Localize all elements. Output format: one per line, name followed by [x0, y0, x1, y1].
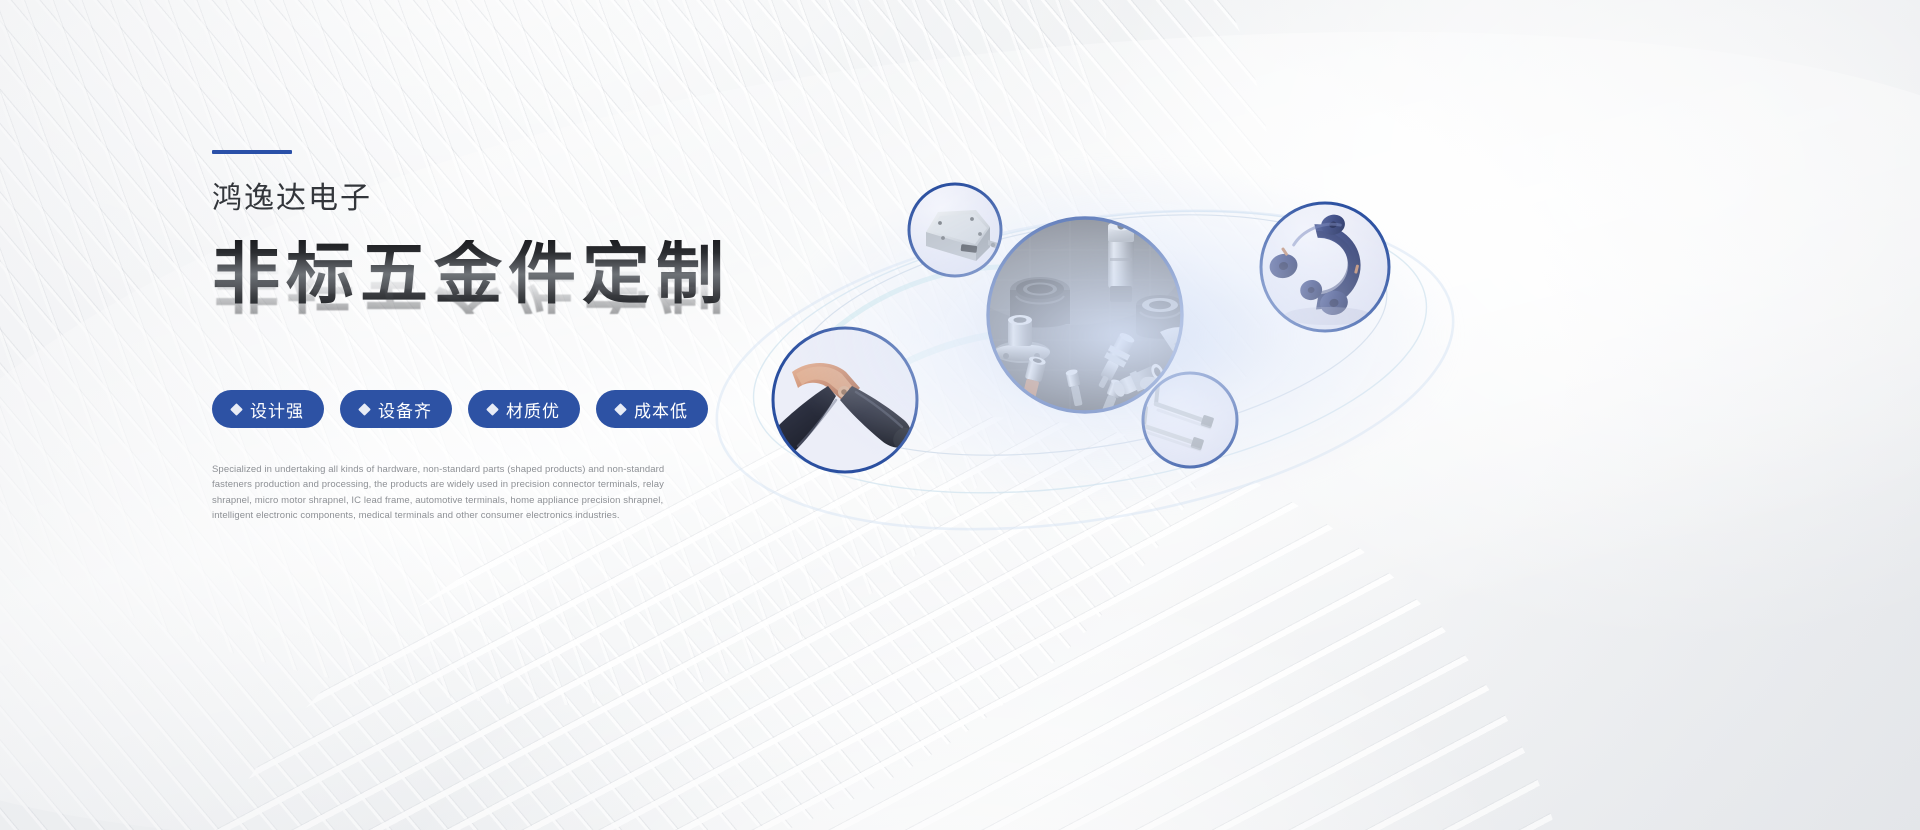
feature-pill-label: 成本低: [634, 397, 688, 422]
feature-pill-cost[interactable]: 成本低: [596, 390, 708, 428]
circle-l-brackets[interactable]: [1143, 373, 1237, 467]
diamond-icon: [358, 403, 371, 416]
diamond-icon: [230, 403, 243, 416]
feature-pill-material[interactable]: 材质优: [468, 390, 580, 428]
product-showcase-cluster: [740, 120, 1480, 540]
circle-metal-enclosure[interactable]: [909, 184, 1001, 276]
accent-rule: [212, 150, 292, 154]
hero-banner: 鸿逸达电子 非标五金件定制 非标五金件定制 设计强 设备齐 材质优 成本低: [0, 0, 1920, 830]
feature-pill-label: 设备齐: [378, 397, 432, 422]
feature-pill-design[interactable]: 设计强: [212, 390, 324, 428]
feature-pill-equipment[interactable]: 设备齐: [340, 390, 452, 428]
diamond-icon: [486, 403, 499, 416]
feature-pill-label: 材质优: [506, 397, 560, 422]
circle-blue-retaining-ring[interactable]: [1261, 203, 1389, 331]
feature-pill-label: 设计强: [250, 397, 304, 422]
hero-description: Specialized in undertaking all kinds of …: [212, 462, 682, 524]
circle-copper-clamp[interactable]: [763, 325, 925, 475]
diamond-icon: [614, 403, 627, 416]
showcase-svg: [740, 120, 1480, 540]
